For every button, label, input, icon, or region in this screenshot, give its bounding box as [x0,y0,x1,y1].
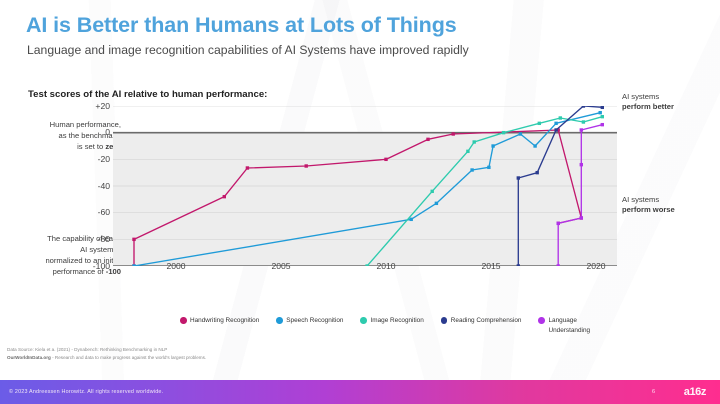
y-tick-label: -80 [78,234,110,244]
legend-item[interactable]: Speech Recognition [276,316,343,326]
legend-item[interactable]: Reading Comprehension [441,316,522,326]
page-number: 6 [652,389,655,395]
chart-heading: Test scores of the AI relative to human … [28,89,267,100]
legend-label: Reading Comprehension [451,316,522,326]
y-axis-tick-labels: +200-20-40-60-80-100 [78,106,110,266]
copyright-text: © 2023 Andreessen Horowitz. All rights r… [9,389,163,395]
data-point [435,202,438,205]
data-point [473,140,476,143]
y-tick-label: -100 [78,261,110,271]
chart-footnote: Data Source: Kiela et a. (2021) - Dynabe… [7,346,206,363]
footnote-owid-rest: - Research and data to make progress aga… [51,355,206,360]
data-point [470,168,473,171]
data-point [246,166,249,169]
data-point [601,123,604,126]
data-point [223,195,226,198]
data-point [538,122,541,125]
data-point [536,171,539,174]
data-point [466,150,469,153]
annotation-better-line1: AI systems [622,92,659,101]
a16z-logo: a16z [684,386,706,398]
legend-color-dot [276,317,283,324]
legend-item[interactable]: Image Recognition [360,316,423,326]
chart-plot-area [113,106,617,266]
y-tick-label: 0 [78,127,110,137]
annotation-better-line2: perform better [622,102,674,112]
data-point [452,132,455,135]
data-point [580,128,583,131]
data-point [601,106,604,109]
data-point [580,163,583,166]
legend-label: Image Recognition [370,316,423,326]
x-tick-label: 2000 [166,261,185,271]
data-point [559,116,562,119]
data-point [305,164,308,167]
legend-color-dot [180,317,187,324]
legend-color-dot [441,317,448,324]
y-tick-label: -40 [78,181,110,191]
slide-canvas: AI is Better than Humans at Lots of Thin… [0,0,720,404]
page-title: AI is Better than Humans at Lots of Thin… [26,13,457,38]
footnote-owid-line: OurWorldInData.org - Research and data t… [7,354,206,362]
x-axis-tick-labels: 20002005201020152020 [113,261,617,275]
footnote-source-line: Data Source: Kiela et a. (2021) - Dynabe… [7,346,206,354]
y-tick-label: +20 [78,101,110,111]
data-point [519,132,522,135]
data-point [599,111,602,114]
data-point [582,106,585,108]
annotation-worse-line2: perform worse [622,205,675,215]
x-tick-label: 2015 [481,261,500,271]
data-point [132,238,135,241]
legend-item[interactable]: Language Understanding [538,316,594,335]
data-point [533,144,536,147]
x-tick-label: 2020 [586,261,605,271]
footnote-owid-link[interactable]: OurWorldInData.org [7,355,51,360]
data-point [554,122,557,125]
data-point [554,128,557,131]
data-point [426,138,429,141]
x-tick-label: 2005 [271,261,290,271]
x-tick-label: 2010 [376,261,395,271]
legend-label: Handwriting Recognition [190,316,259,326]
chart-legend: Handwriting RecognitionSpeech Recognitio… [180,316,594,335]
annotation-perform-worse: AI systems perform worse [622,195,675,216]
legend-color-dot [360,317,367,324]
data-point [517,176,520,179]
y-tick-label: -60 [78,207,110,217]
footer-bar: © 2023 Andreessen Horowitz. All rights r… [0,380,720,404]
data-point [410,218,413,221]
annotation-perform-better: AI systems perform better [622,92,674,113]
page-subtitle: Language and image recognition capabilit… [27,43,469,57]
legend-label: Language Understanding [548,316,594,335]
legend-color-dot [538,317,545,324]
legend-item[interactable]: Handwriting Recognition [180,316,259,326]
y-tick-label: -20 [78,154,110,164]
legend-label: Speech Recognition [286,316,343,326]
data-point [431,190,434,193]
data-point [384,158,387,161]
data-point [491,144,494,147]
data-point [601,115,604,118]
data-point [582,120,585,123]
annotation-worse-line1: AI systems [622,195,659,204]
data-point [487,166,490,169]
data-point [557,222,560,225]
data-point [502,131,505,134]
shaded-worse-region [113,133,617,266]
data-point [580,216,583,219]
line-chart-svg [113,106,617,266]
